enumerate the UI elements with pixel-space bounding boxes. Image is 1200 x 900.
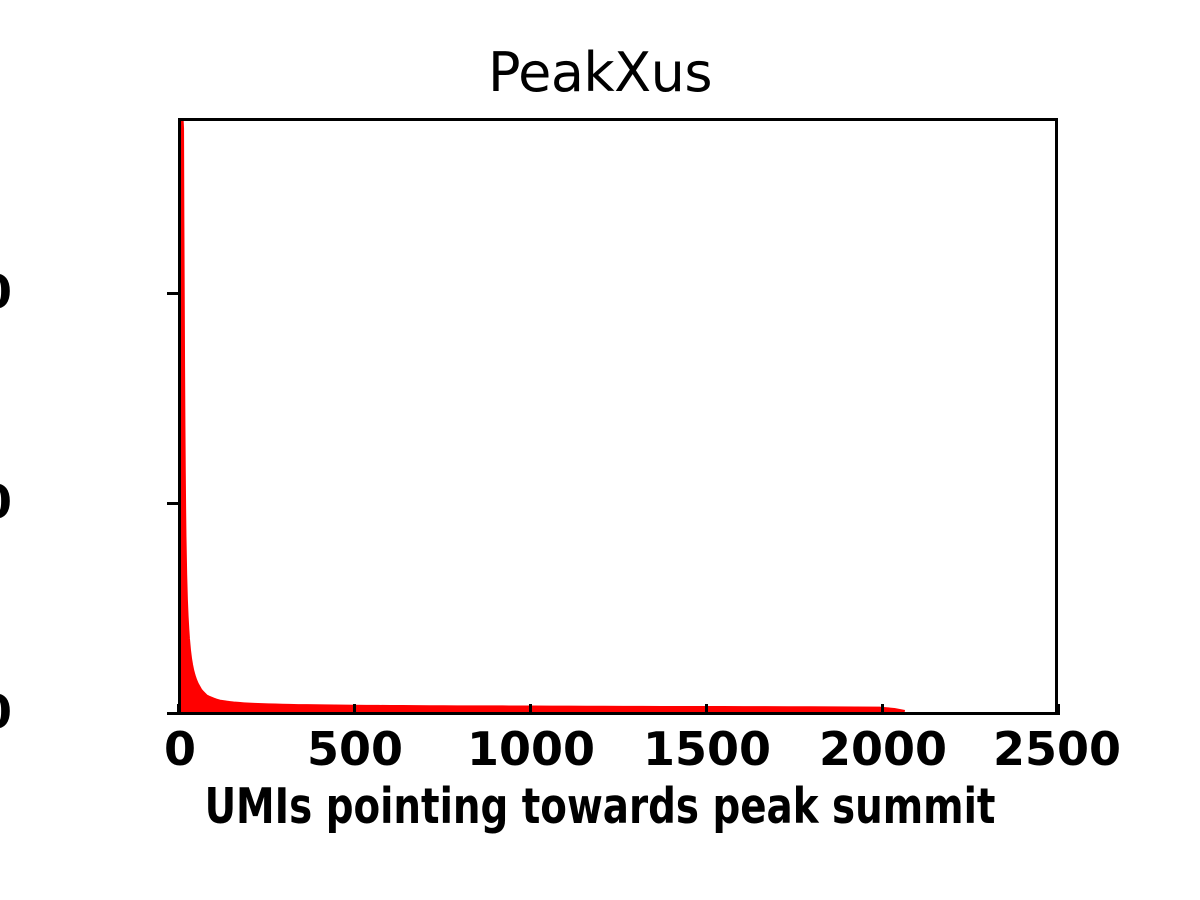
chart-title: PeakXus	[0, 42, 1200, 104]
series-fill-polygon	[181, 121, 905, 712]
xtick-mark-1500	[705, 704, 708, 715]
xtick-mark-1000	[529, 704, 532, 715]
chart-figure: PeakXus 400 200 0 0 500 1000 1500 2000 2…	[0, 0, 1200, 900]
ytick-mark-200	[167, 502, 178, 505]
data-series-area	[181, 121, 1055, 712]
ytick-mark-400	[167, 292, 178, 295]
x-axis-label: UMIs pointing towards peak summit	[72, 779, 1128, 835]
xtick-mark-2500	[1057, 704, 1060, 715]
xtick-label-2500: 2500	[993, 724, 1121, 774]
xtick-mark-500	[353, 704, 356, 715]
plot-area	[178, 118, 1058, 715]
ytick-label-400: 400	[0, 269, 12, 315]
xtick-label-0: 0	[164, 724, 196, 774]
xtick-label-500: 500	[307, 724, 403, 774]
xtick-mark-2000	[881, 704, 884, 715]
xtick-label-2000: 2000	[819, 724, 947, 774]
ytick-label-0: 0	[0, 689, 12, 735]
xtick-mark-0	[177, 704, 180, 715]
ytick-label-200: 200	[0, 479, 12, 525]
xtick-label-1500: 1500	[643, 724, 771, 774]
xtick-label-1000: 1000	[467, 724, 595, 774]
series-line	[181, 121, 905, 712]
